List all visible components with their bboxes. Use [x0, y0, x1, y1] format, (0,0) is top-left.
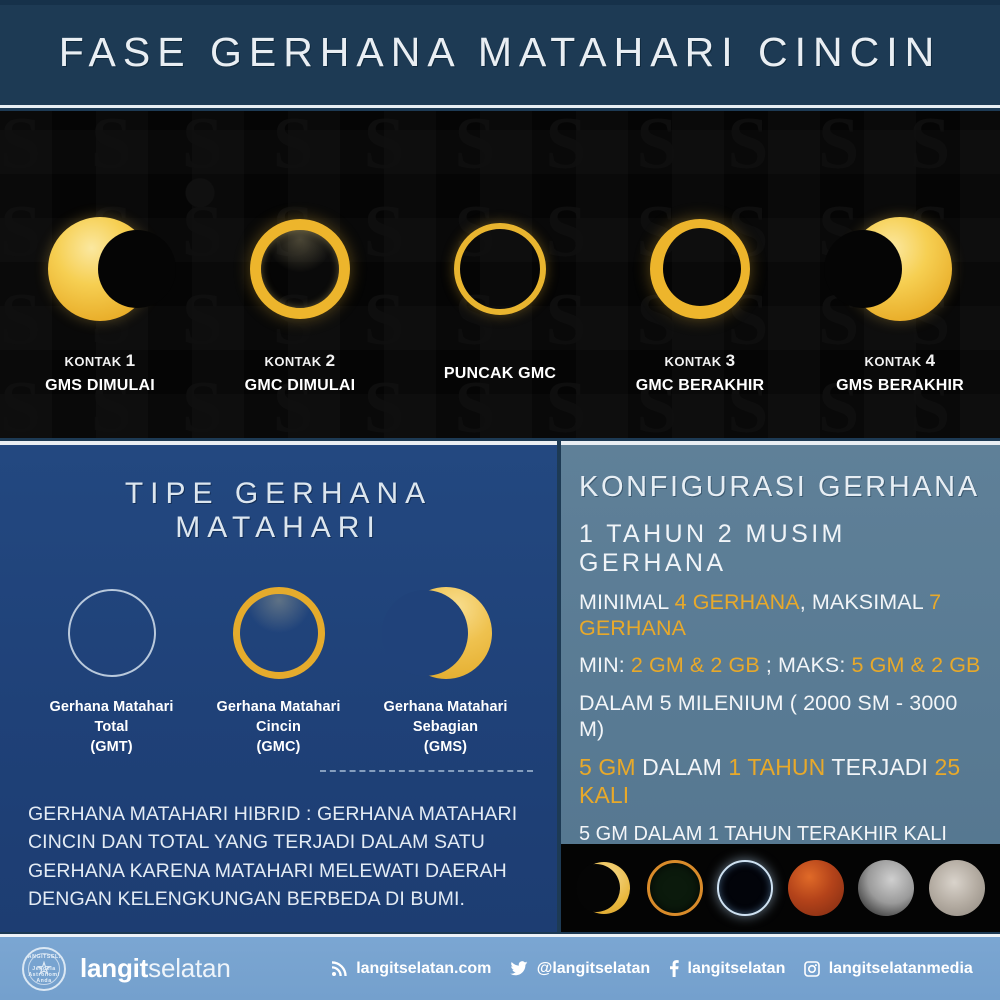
langitselatan-logo-icon: LANGITSELATAN ☆ Jendela Astronomi Anda [22, 947, 66, 991]
configuration-stat-lines: MINIMAL 4 GERHANA, MAKSIMAL 7 GERHANAMIN… [579, 589, 984, 809]
phase-kontak-3: KONTAK 3 [636, 349, 765, 373]
page-title: FASE GERHANA MATAHARI CINCIN [59, 29, 941, 76]
gold-ring-icon [231, 585, 327, 681]
rss-icon [331, 961, 347, 977]
left-panel-divider [320, 770, 533, 772]
twitter-icon [510, 961, 528, 976]
social-label-instagram: langitselatanmedia [829, 960, 973, 978]
social-links: langitselatan.com @langitselatan langits… [322, 960, 1000, 978]
instagram-icon [804, 961, 820, 977]
phase-name-1: GMS DIMULAI [45, 375, 155, 398]
phase-item-2: KONTAK 2 GMC DIMULAI [200, 111, 400, 398]
total-eclipse-corona-photo [717, 860, 773, 916]
social-link-twitter[interactable]: @langitselatan [510, 960, 650, 978]
eclipse-photo-strip [561, 844, 1000, 932]
phase-name-5: GMS BERAKHIR [836, 375, 964, 398]
eclipse-type-label-sebagian: Gerhana Matahari Sebagian(GMS) [366, 697, 526, 757]
configuration-subtitle: 1 TAHUN 2 MUSIM GERHANA [579, 520, 984, 578]
social-label-rss: langitselatan.com [356, 960, 491, 978]
facebook-icon [669, 960, 679, 977]
phase-name-3: PUNCAK GMC [444, 363, 556, 386]
brand-block[interactable]: LANGITSELATAN ☆ Jendela Astronomi Anda l… [22, 947, 322, 991]
full-moon-photo [929, 860, 985, 916]
phase-kontak-4: KONTAK 4 [836, 349, 964, 373]
sun-partial-bite-right-icon [38, 207, 162, 331]
phase-item-4: KONTAK 3 GMC BERAKHIR [600, 111, 800, 398]
phase-item-3: PUNCAK GMC [400, 111, 600, 386]
phase-item-5: KONTAK 4 GMS BERAKHIR [800, 111, 1000, 398]
eclipse-configuration-panel: KONFIGURASI GERHANA 1 TAHUN 2 MUSIM GERH… [561, 441, 1000, 932]
social-link-instagram[interactable]: langitselatanmedia [804, 960, 973, 978]
annular-eclipse-photo [647, 860, 703, 916]
phase-kontak-2: KONTAK 2 [245, 349, 356, 373]
phase-name-2: GMC DIMULAI [245, 375, 356, 398]
eclipse-type-sebagian: Gerhana Matahari Sebagian(GMS) [366, 585, 526, 757]
eclipse-type-label-cincin: Gerhana Matahari Cincin(GMC) [199, 697, 359, 757]
hybrid-eclipse-description: GERHANA MATAHARI HIBRID : GERHANA MATAHA… [28, 800, 535, 913]
footer-bar: LANGITSELATAN ☆ Jendela Astronomi Anda l… [0, 934, 1000, 1000]
partial-lunar-eclipse-photo [858, 860, 914, 916]
phase-item-1: KONTAK 1 GMS DIMULAI [0, 111, 200, 398]
social-label-facebook: langitselatan [688, 960, 786, 978]
annulus-thick-icon [238, 207, 362, 331]
configuration-title: KONFIGURASI GERHANA [579, 471, 984, 504]
annulus-thin-icon [438, 207, 562, 331]
phase-row: KONTAK 1 GMS DIMULAI KONTAK 2 GMC DIMULA… [0, 111, 1000, 438]
eclipse-type-label-total: Gerhana Matahari Total(GMT) [32, 697, 192, 757]
brand-name: langitselatan [80, 953, 231, 984]
eclipse-type-cincin: Gerhana Matahari Cincin(GMC) [199, 585, 359, 757]
blood-moon-photo [788, 860, 844, 916]
social-link-rss[interactable]: langitselatan.com [331, 960, 491, 978]
sun-partial-bite-left-icon [838, 207, 962, 331]
eclipse-type-total: Gerhana Matahari Total(GMT) [32, 585, 192, 757]
circle-outline-icon [64, 585, 160, 681]
social-label-twitter: @langitselatan [537, 960, 650, 978]
gold-crescent-icon [398, 585, 494, 681]
infographic-page: FASE GERHANA MATAHARI CINCIN SSSSSSSSSSS… [0, 0, 1000, 1000]
phase-kontak-1: KONTAK 1 [45, 349, 155, 373]
eclipse-types-row: Gerhana Matahari Total(GMT) Gerhana Mata… [22, 585, 535, 757]
crescent-eclipse-photo [576, 860, 632, 916]
phase-name-4: GMC BERAKHIR [636, 375, 765, 398]
eclipse-types-panel: TIPE GERHANA MATAHARI Gerhana Matahari T… [0, 441, 557, 932]
eclipse-types-title: TIPE GERHANA MATAHARI [22, 477, 535, 545]
eclipse-phases-band: SSSSSSSSSSSSSSSSSSSSSSSSSSSSSSSSSSSSSSSS… [0, 111, 1000, 438]
social-link-facebook[interactable]: langitselatan [669, 960, 786, 978]
header-band: FASE GERHANA MATAHARI CINCIN [0, 0, 1000, 108]
annulus-offset-icon [638, 207, 762, 331]
